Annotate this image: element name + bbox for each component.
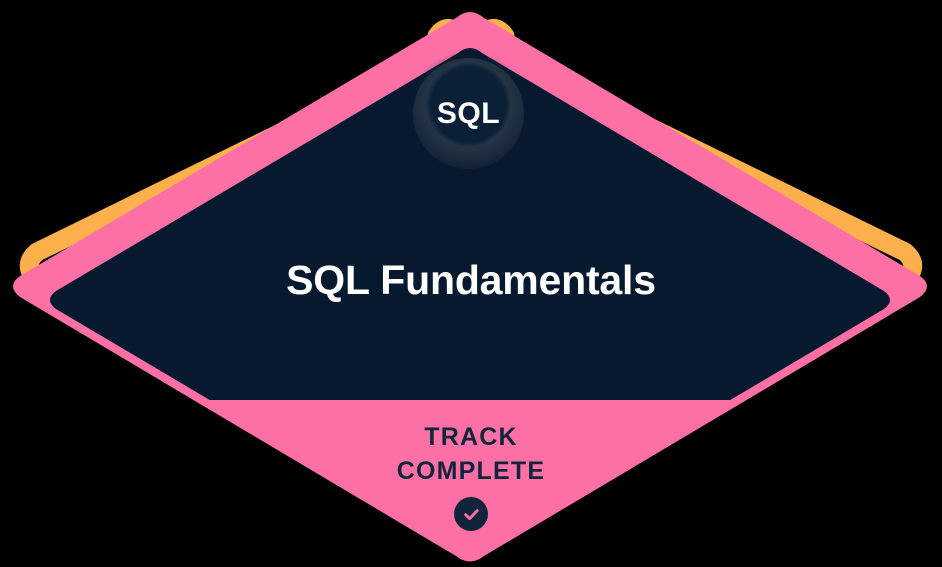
status-line-complete: COMPLETE (0, 454, 942, 488)
sql-circle-emblem: SQL (413, 58, 524, 169)
completion-badge: SQL SQL Fundamentals TRACK COMPLETE (0, 0, 942, 567)
check-circle-icon (454, 497, 488, 531)
status-block: TRACK COMPLETE (0, 420, 942, 531)
badge-title: SQL Fundamentals (0, 258, 942, 303)
emblem-label: SQL (437, 99, 500, 129)
status-line-track: TRACK (0, 420, 942, 454)
